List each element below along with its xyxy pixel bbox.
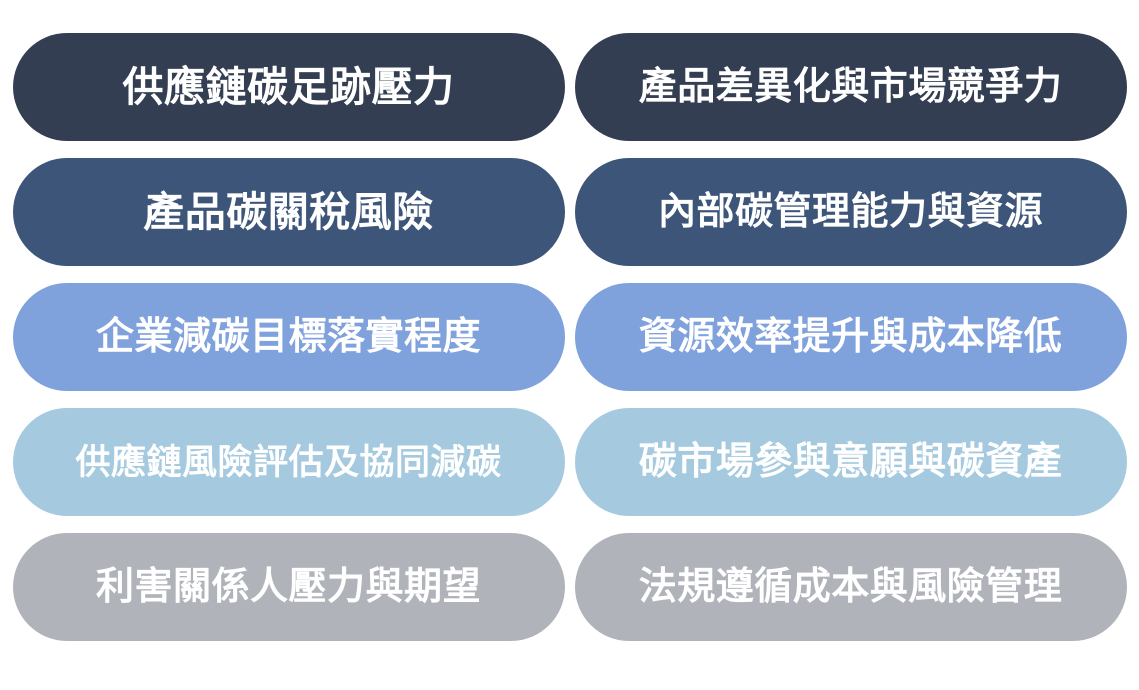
pill-r3c2[interactable]: 資源效率提升與成本降低 xyxy=(575,283,1127,391)
pill-r1c1[interactable]: 供應鏈碳足跡壓力 xyxy=(13,33,565,141)
pill-r2c1[interactable]: 產品碳關稅風險 xyxy=(13,158,565,266)
pill-label-r4c1: 供應鏈風險評估及協同減碳 xyxy=(75,445,501,480)
pill-label-r3c2: 資源效率提升與成本降低 xyxy=(639,318,1063,356)
pill-label-r5c1: 利害關係人壓力與期望 xyxy=(96,568,481,606)
pill-r3c1[interactable]: 企業減碳目標落實程度 xyxy=(13,283,565,391)
pill-grid: 供應鏈碳足跡壓力 產品差異化與市場競爭力 產品碳關稅風險 內部碳管理能力與資源 … xyxy=(0,0,1139,690)
pill-r2c2[interactable]: 內部碳管理能力與資源 xyxy=(575,158,1127,266)
pill-label-r1c2: 產品差異化與市場競爭力 xyxy=(639,68,1063,106)
pill-r1c2[interactable]: 產品差異化與市場競爭力 xyxy=(575,33,1127,141)
pill-label-r1c1: 供應鏈碳足跡壓力 xyxy=(123,67,455,108)
pill-label-r2c1: 產品碳關稅風險 xyxy=(143,192,434,233)
pill-label-r2c2: 內部碳管理能力與資源 xyxy=(658,193,1043,231)
pill-label-r5c2: 法規遵循成本與風險管理 xyxy=(639,568,1063,606)
pill-r5c2[interactable]: 法規遵循成本與風險管理 xyxy=(575,533,1127,641)
pill-r4c2[interactable]: 碳市場參與意願與碳資產 xyxy=(575,408,1127,516)
pill-r5c1[interactable]: 利害關係人壓力與期望 xyxy=(13,533,565,641)
pill-label-r3c1: 企業減碳目標落實程度 xyxy=(96,318,481,356)
pill-r4c1[interactable]: 供應鏈風險評估及協同減碳 xyxy=(13,408,565,516)
pill-label-r4c2: 碳市場參與意願與碳資產 xyxy=(639,443,1063,481)
